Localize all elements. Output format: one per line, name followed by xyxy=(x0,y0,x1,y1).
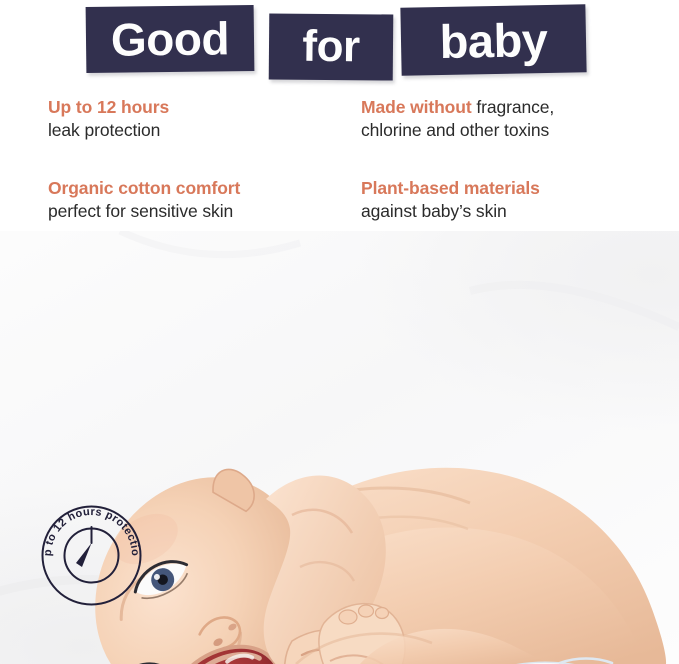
promotional-product-panel: Good for baby Up to 12 hours leak protec… xyxy=(0,0,679,664)
benefit-headline: Up to 12 hours xyxy=(48,96,348,119)
benefit-plant-based: Plant-based materials against baby’s ski… xyxy=(361,177,661,223)
benefit-headline-strong: Plant-based materials xyxy=(361,178,540,198)
up-to-12-hours-protection-badge: up to 12 hours protection xyxy=(41,505,142,606)
benefit-headline: Plant-based materials xyxy=(361,177,661,200)
benefit-headline-strong: Up to 12 hours xyxy=(48,97,169,117)
headline-word-for-label: for xyxy=(302,25,360,69)
benefit-headline-strong: Made without xyxy=(361,97,472,117)
toe xyxy=(359,605,374,617)
headline-word-for: for xyxy=(269,13,394,80)
timer-clock-icon xyxy=(62,526,121,585)
benefit-subtext: leak protection xyxy=(48,119,348,142)
benefit-list: Up to 12 hours leak protection Made with… xyxy=(0,96,679,231)
benefit-headline: Made without fragrance, xyxy=(361,96,661,119)
toe xyxy=(376,608,389,619)
headline: Good for baby xyxy=(0,0,679,92)
benefit-leak-protection: Up to 12 hours leak protection xyxy=(48,96,348,142)
timer-needle xyxy=(76,543,92,567)
benefit-subtext: chlorine and other toxins xyxy=(361,119,661,142)
benefit-headline-rest: fragrance, xyxy=(472,97,555,117)
benefit-headline: Organic cotton comfort xyxy=(48,177,348,200)
headline-word-good: Good xyxy=(86,5,255,73)
benefit-made-without: Made without fragrance, chlorine and oth… xyxy=(361,96,661,142)
headline-word-good-label: Good xyxy=(111,15,230,62)
toe xyxy=(339,610,357,624)
benefit-headline-strong: Organic cotton comfort xyxy=(48,178,240,198)
headline-word-baby-label: baby xyxy=(439,15,548,64)
benefit-subtext: against baby’s skin xyxy=(361,200,661,223)
headline-word-baby: baby xyxy=(400,4,586,76)
benefit-organic-cotton: Organic cotton comfort perfect for sensi… xyxy=(48,177,348,223)
benefit-subtext: perfect for sensitive skin xyxy=(48,200,348,223)
